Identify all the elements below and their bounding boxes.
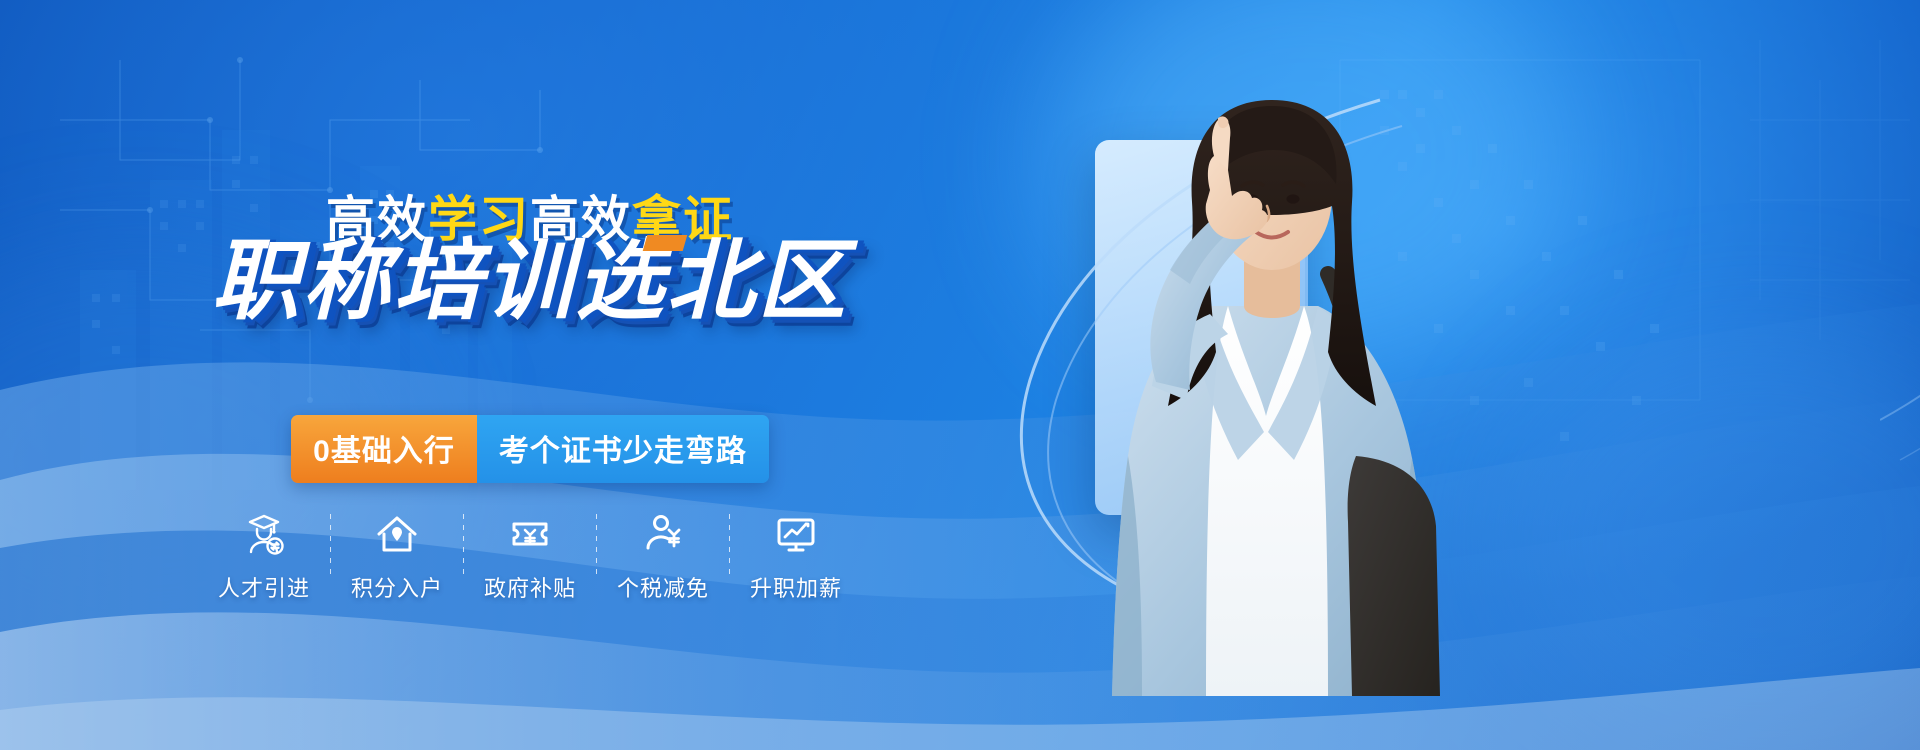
feature-label: 人才引进 [218, 571, 310, 603]
orange-accent-stroke-icon [643, 235, 688, 251]
yuan-ticket-icon [506, 510, 554, 558]
headline-text: 职称培训选北区 [211, 231, 848, 330]
graduate-person-icon [240, 510, 288, 558]
feature-label: 升职加薪 [750, 571, 842, 603]
sweep-lines-decoration [1880, 120, 1920, 580]
house-pin-icon [373, 510, 421, 558]
page-title: 职称培训选北区 [0, 237, 1060, 325]
badge-primary: 0基础入行 [291, 415, 477, 483]
person-yuan-icon [639, 510, 687, 558]
feature-label: 政府补贴 [484, 571, 576, 603]
model-photo [1060, 56, 1520, 696]
feature-item-residency: 积分入户 [331, 510, 463, 603]
feature-item-subsidy: 政府补贴 [464, 510, 596, 603]
feature-label: 积分入户 [351, 571, 443, 603]
feature-item-promotion: 升职加薪 [730, 510, 862, 603]
model-area [1020, 0, 1920, 750]
feature-list: 人才引进 积分入户 [0, 510, 1060, 603]
feature-label: 个税减免 [617, 571, 709, 603]
banner-content: 高效学习高效拿证 职称培训选北区 0基础入行 考个证书少走弯路 [0, 0, 1060, 750]
feature-item-talent: 人才引进 [198, 510, 330, 603]
badge-group: 0基础入行 考个证书少走弯路 [0, 415, 1060, 483]
growth-chart-icon [772, 510, 820, 558]
badge-secondary: 考个证书少走弯路 [477, 415, 769, 483]
feature-item-tax: 个税减免 [597, 510, 729, 603]
promo-banner: 高效学习高效拿证 职称培训选北区 0基础入行 考个证书少走弯路 [0, 0, 1920, 750]
